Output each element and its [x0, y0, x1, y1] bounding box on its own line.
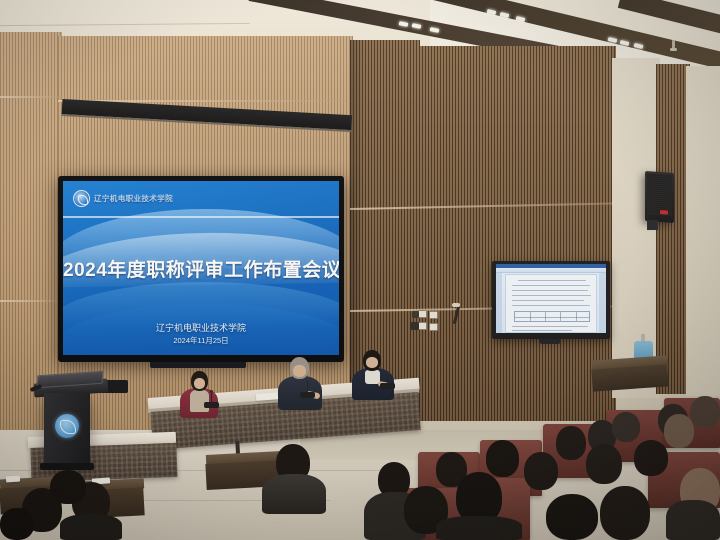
- wall-panel-back: [416, 46, 616, 421]
- audience-person-head: [486, 440, 519, 477]
- presentation-slide: 辽宁机电职业技术学院 2024年度职称评审工作布置会议 辽宁机电职业技术学院 2…: [63, 181, 339, 355]
- audience-person-body: [262, 474, 326, 514]
- slide-accent-line: [63, 216, 339, 218]
- audience-person-head: [634, 440, 668, 476]
- audience-person-head: [600, 486, 650, 540]
- wall-outlet-4[interactable]: [429, 323, 438, 331]
- doc-table-row-sep: [515, 317, 589, 318]
- wall-panel-far-right: [686, 66, 720, 396]
- wall-hook-top: [452, 303, 460, 307]
- document-page: [505, 274, 597, 333]
- doc-table: [514, 311, 590, 322]
- slide-date: 2024年11月25日: [63, 335, 339, 346]
- head-table-person-left-face: [194, 378, 205, 389]
- document-ribbon[interactable]: [496, 268, 606, 273]
- audience-person-body: [436, 516, 522, 540]
- audience-person-head: [546, 494, 598, 540]
- main-display-screen[interactable]: 辽宁机电职业技术学院 2024年度职称评审工作布置会议 辽宁机电职业技术学院 2…: [63, 181, 339, 355]
- document-left-pane: [496, 273, 502, 333]
- side-monitor-screen[interactable]: [496, 264, 606, 333]
- doc-line: [512, 290, 588, 291]
- audience-person-head: [556, 426, 586, 460]
- slide-logo-text: 辽宁机电职业技术学院: [94, 193, 173, 204]
- wall-outlet-plate-1: [412, 311, 419, 318]
- podium-base: [40, 463, 94, 470]
- audience-person-body: [60, 514, 122, 540]
- display-mount-bar: [150, 362, 246, 368]
- wall-seam-c: [0, 300, 62, 302]
- crest-icon: [73, 190, 90, 207]
- head-table-person-left-scarf: [190, 390, 209, 412]
- doc-line: [512, 326, 588, 327]
- doc-line: [518, 280, 586, 281]
- wall-panel-right-slat: [656, 64, 690, 394]
- head-table-person-center-face: [293, 365, 306, 377]
- wall-outlet-2[interactable]: [429, 311, 438, 319]
- head-table-person-right-face: [366, 357, 378, 368]
- doc-line: [512, 305, 590, 306]
- audience-person-head: [690, 396, 720, 428]
- side-monitor-mount: [540, 339, 560, 344]
- audience-person-head: [664, 414, 694, 448]
- slide-title: 2024年度职称评审工作布置会议: [63, 255, 339, 282]
- conference-room-photo: 辽宁机电职业技术学院 2024年度职称评审工作布置会议 辽宁机电职业技术学院 2…: [0, 0, 720, 540]
- doc-line: [512, 300, 584, 301]
- audience-person-head: [524, 452, 558, 490]
- slide-organization: 辽宁机电职业技术学院: [63, 321, 339, 334]
- sprinkler-head-2: [672, 40, 675, 49]
- doc-line: [512, 295, 591, 296]
- audience-person-head: [612, 412, 640, 442]
- podium-emblem: [55, 414, 79, 438]
- speaker-bracket: [647, 220, 658, 230]
- audience-person-head: [0, 508, 34, 540]
- audience-person-head: [586, 444, 622, 484]
- wall-outlet-3[interactable]: [418, 322, 427, 330]
- wall-outlet-1[interactable]: [418, 310, 427, 318]
- slide-logo: 辽宁机电职业技术学院: [73, 190, 173, 207]
- speaker-brand-logo: [660, 210, 668, 215]
- doc-line: [512, 285, 590, 286]
- paper-on-desk: [6, 476, 20, 483]
- wall-seam-a: [0, 96, 62, 98]
- document-right-pane: [599, 273, 606, 333]
- audience-person-body: [666, 500, 720, 540]
- speaker-icon: [645, 171, 674, 223]
- audience-person-head: [50, 470, 86, 504]
- wall-outlet-plate-2: [410, 322, 419, 330]
- doc-line: [512, 330, 572, 331]
